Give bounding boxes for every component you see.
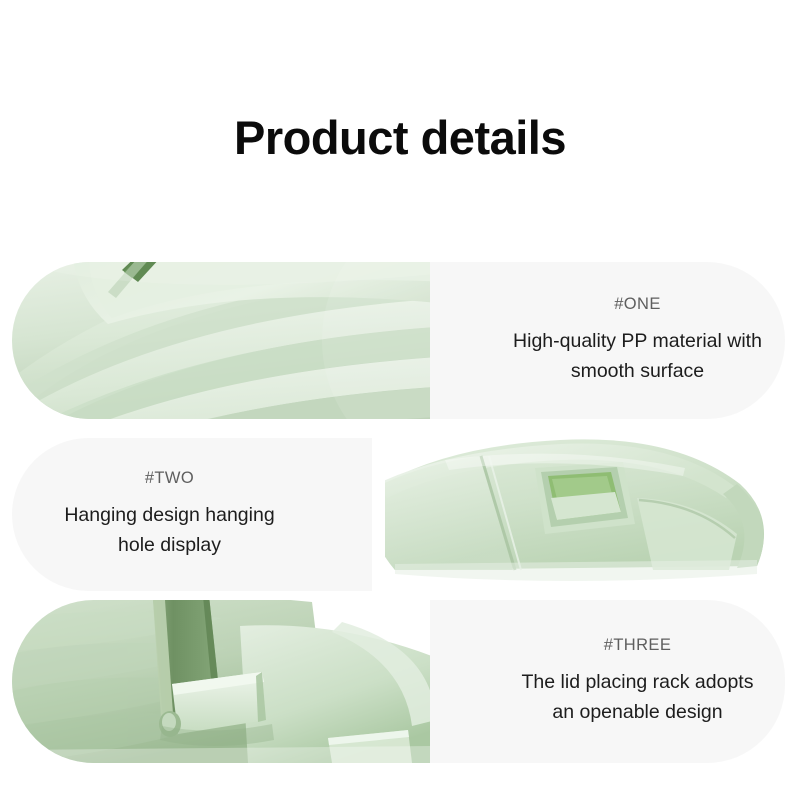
feature-caption-three: The lid placing rack adopts an openable … <box>522 667 754 727</box>
feature-caption-three-line-2: an openable design <box>522 697 754 727</box>
feature-tag-one: #ONE <box>614 295 661 314</box>
feature-caption-two: Hanging design hanging hole display <box>64 500 274 560</box>
feature-text-panel-two: #TWO Hanging design hanging hole display <box>12 438 372 591</box>
feature-text-panel-three: #THREE The lid placing rack adopts an op… <box>430 600 785 763</box>
feature-caption-one-line-1: High-quality PP material with <box>513 326 762 356</box>
feature-caption-one-line-2: smooth surface <box>513 356 762 386</box>
feature-tag-two: #TWO <box>145 469 194 488</box>
feature-caption-two-line-2: hole display <box>64 530 274 560</box>
product-photo-three <box>12 600 432 763</box>
page-title: Product details <box>0 110 800 165</box>
product-photo-two <box>385 438 788 591</box>
feature-row-two: #TWO Hanging design hanging hole display <box>0 438 800 591</box>
feature-caption-one: High-quality PP material with smooth sur… <box>513 326 762 386</box>
feature-row-three: #THREE The lid placing rack adopts an op… <box>0 600 800 763</box>
feature-text-panel-one: #ONE High-quality PP material with smoot… <box>430 262 785 419</box>
feature-row-one: #ONE High-quality PP material with smoot… <box>0 262 800 419</box>
product-photo-one <box>12 262 457 419</box>
feature-tag-three: #THREE <box>604 636 672 655</box>
feature-caption-two-line-1: Hanging design hanging <box>64 500 274 530</box>
product-details-page: Product details <box>0 0 800 800</box>
feature-caption-three-line-1: The lid placing rack adopts <box>522 667 754 697</box>
